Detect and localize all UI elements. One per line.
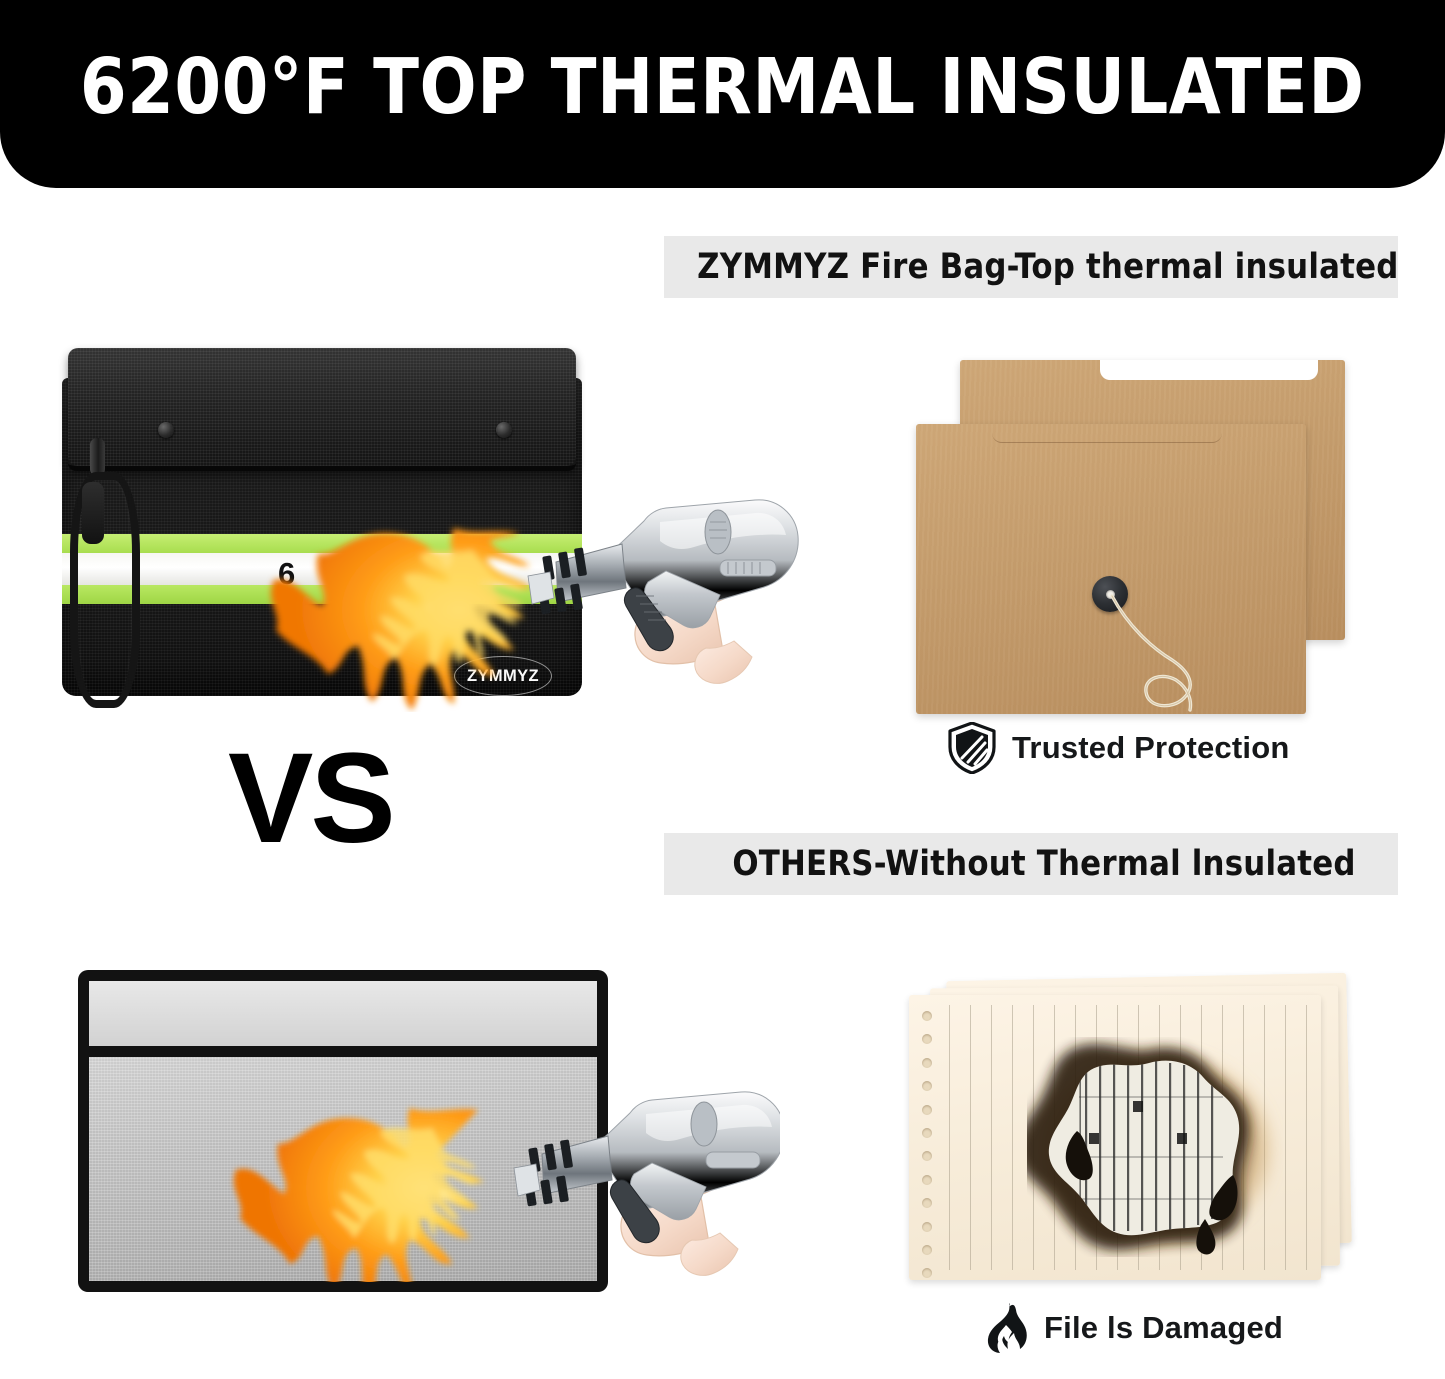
torch-body-bottom (514, 1092, 780, 1243)
punch-hole (922, 1151, 932, 1161)
flame-icon (984, 1303, 1028, 1353)
label-bar-others-text: OTHERS-Without Thermal lnsulated (732, 844, 1355, 884)
label-bar-zymmyz: ZYMMYZ Fire Bag-Top thermal insulated (664, 236, 1398, 298)
butane-torch-bottom (450, 1010, 780, 1310)
punch-hole (922, 1198, 932, 1208)
punch-hole (922, 1034, 932, 1044)
punch-hole (922, 1128, 932, 1138)
punch-hole (922, 1105, 932, 1115)
punch-hole (922, 1058, 932, 1068)
punch-hole (922, 1268, 932, 1278)
punch-hole (922, 1245, 932, 1255)
label-bar-others: OTHERS-Without Thermal lnsulated (664, 833, 1398, 895)
butane-torch-top (484, 410, 814, 740)
caption-trusted-protection-text: Trusted Protection (1012, 730, 1289, 766)
strap-clip (90, 438, 105, 476)
envelope-front-fold (992, 424, 1222, 443)
burnt-document-photo (885, 975, 1385, 1290)
torch-body (528, 500, 798, 651)
punch-hole (922, 1175, 932, 1185)
kraft-envelope-photo (900, 338, 1370, 724)
caption-trusted-protection: Trusted Protection (948, 722, 1289, 774)
envelope-string (1066, 574, 1266, 744)
header-banner: 6200°F TOP THERMAL INSULATED (0, 0, 1445, 188)
envelope-front (916, 424, 1306, 714)
caption-file-damaged: File ls Damaged (984, 1303, 1283, 1353)
envelope-back-notch (1100, 360, 1318, 380)
caption-file-damaged-text: File ls Damaged (1044, 1310, 1283, 1346)
snap-button-left (158, 422, 174, 438)
black-fireproof-bag-photo: 6 ZYMMYZ (22, 330, 642, 712)
vs-divider: VS (228, 735, 393, 863)
paper-punch-holes (922, 1011, 938, 1266)
paper-sheet-front (909, 995, 1321, 1280)
burn-hole (1027, 1037, 1283, 1257)
punch-hole (922, 1011, 932, 1021)
punch-hole (922, 1222, 932, 1232)
strap-tab (82, 482, 104, 544)
silver-bag-photo (50, 960, 650, 1310)
label-bar-zymmyz-text: ZYMMYZ Fire Bag-Top thermal insulated (697, 247, 1398, 287)
page-title: 6200°F TOP THERMAL INSULATED (80, 49, 1365, 126)
wrist-strap (60, 438, 128, 698)
strap-loop (70, 472, 140, 708)
shield-icon (948, 722, 996, 774)
punch-hole (922, 1081, 932, 1091)
